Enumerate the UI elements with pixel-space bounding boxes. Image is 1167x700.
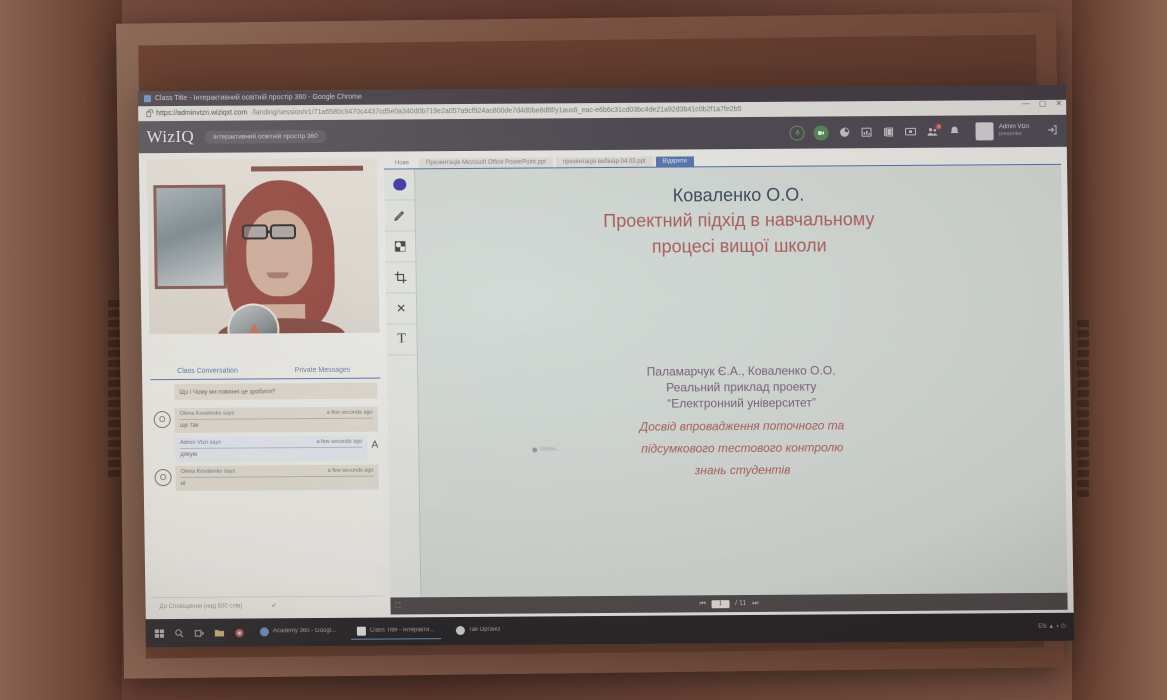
presenter-video[interactable]: [147, 158, 380, 335]
notification-icon[interactable]: [948, 125, 961, 138]
avatar: [976, 122, 994, 140]
projected-screen: Class Title - Інтерактивний освітній про…: [138, 85, 1074, 647]
page-total: / 11: [735, 600, 746, 607]
whiteboard-stage: ✕ T Коваленко О.О. Проектний підхід в на…: [384, 165, 1067, 598]
chat-text: Що і Чому ми повинні це зробити?: [179, 386, 372, 396]
chat-text: дякую: [180, 448, 362, 458]
tab-presentation-1[interactable]: Презентація Microsoft Office PowerPoint.…: [419, 157, 553, 168]
lock-icon: [146, 111, 151, 117]
slide-subtitle-block: Паламарчук Є.А., Коваленко О.О. Реальний…: [418, 361, 1066, 481]
maximize-button[interactable]: ▢: [1039, 99, 1047, 108]
left-panel: Class Conversation Private Messages Що і…: [139, 152, 389, 620]
timer-icon[interactable]: [838, 126, 851, 139]
chat-tabs: Class Conversation Private Messages: [150, 362, 380, 381]
microphone-icon[interactable]: [790, 125, 805, 140]
slide-watermark: Обери...: [532, 446, 559, 452]
list-item: O Olena Kovalenko says a few seconds ago…: [154, 465, 378, 492]
chat-input-row[interactable]: До Сповіщення (над 500 слів) ✔: [153, 596, 383, 616]
url-host: https://adminvtzn.wiziqxt.com: [156, 110, 247, 118]
poll-icon[interactable]: [860, 126, 873, 139]
chrome-favicon-icon: [144, 95, 151, 102]
send-check-icon[interactable]: ✔: [271, 602, 377, 610]
slide-italic-line3: знань студентів: [419, 454, 1065, 481]
slide-title-block: Коваленко О.О. Проектний підхід в навчал…: [415, 183, 1062, 260]
library-icon[interactable]: [882, 125, 895, 138]
presenter-avatar: [227, 303, 280, 334]
chat-author: Admin Vtzn says: [180, 440, 221, 446]
windows-start-icon[interactable]: [154, 628, 165, 639]
last-page-button[interactable]: ⏭: [752, 599, 758, 607]
delete-tool[interactable]: ✕: [386, 293, 416, 324]
avatar: [154, 440, 171, 457]
stage-panel: Нове Презентація Microsoft Office PowerP…: [382, 147, 1074, 618]
chat-bubble: Olena Kovalenko says a few seconds ago н…: [175, 465, 378, 491]
chat-text: ні: [181, 477, 374, 487]
class-title-pill: Інтерактивний освітній простір 360: [204, 129, 327, 143]
tab-open[interactable]: Відкрити: [656, 156, 694, 166]
taskbar-window-class[interactable]: Class Title - Інтеракти...: [351, 624, 441, 640]
tab-private-messages[interactable]: Private Messages: [265, 362, 380, 379]
close-button[interactable]: ✕: [1055, 99, 1062, 108]
left-slats: [108, 300, 120, 477]
chat-bubble: Olena Kovalenko says a few seconds ago щ…: [175, 407, 378, 433]
user-profile[interactable]: Admin Vtzn presenter: [976, 122, 1030, 140]
list-item: O Olena Kovalenko says a few seconds ago…: [154, 407, 378, 434]
list-item: Admin Vtzn says a few seconds ago дякую …: [154, 436, 378, 463]
shape-fill-tool[interactable]: [385, 231, 415, 262]
url-path: /landing/session/v1/71a6580c9470c4437cd5…: [252, 106, 741, 116]
minimize-button[interactable]: —: [1022, 99, 1030, 108]
chat-input[interactable]: До Сповіщення (над 500 слів): [159, 603, 265, 610]
pointer-color-tool[interactable]: [384, 169, 414, 200]
slide-canvas[interactable]: Коваленко О.О. Проектний підхід в навчал…: [415, 165, 1067, 597]
chat-panel: Class Conversation Private Messages Що і…: [150, 362, 384, 616]
system-tray[interactable]: EN ▲ ◗ ⏻: [1038, 623, 1066, 630]
chat-time: a few seconds ago: [328, 468, 374, 474]
screenshare-icon[interactable]: [904, 125, 917, 138]
wiziq-app: WizIQ Інтерактивний освітній простір 360: [138, 115, 1073, 619]
wiziq-logo[interactable]: WizIQ: [146, 127, 194, 147]
pencil-tool[interactable]: [385, 200, 415, 231]
slide-navigation: ⛶ ⏮ 1 / 11 ⏭: [390, 593, 1067, 615]
first-page-button[interactable]: ⏮: [699, 600, 705, 608]
tab-class-conversation[interactable]: Class Conversation: [150, 362, 265, 379]
chat-time: a few seconds ago: [327, 410, 373, 416]
taskbar-window-academy[interactable]: Academy 360 - Googl...: [254, 624, 342, 640]
chat-time: a few seconds ago: [317, 439, 363, 445]
avatar: O: [154, 411, 171, 428]
wiziq-body: Class Conversation Private Messages Що і…: [139, 147, 1074, 619]
crop-tool[interactable]: [385, 262, 415, 293]
chrome-icon[interactable]: [234, 627, 245, 638]
attendees-icon[interactable]: 4: [926, 125, 939, 138]
chat-flag-icon[interactable]: A: [371, 440, 378, 451]
avatar: [153, 387, 170, 404]
fullscreen-icon[interactable]: ⛶: [395, 602, 400, 610]
file-explorer-icon[interactable]: [214, 627, 225, 638]
chat-author: Olena Kovalenko says: [180, 469, 235, 475]
right-slats: [1077, 320, 1089, 497]
avatar: O: [154, 469, 171, 486]
window-controls[interactable]: — ▢ ✕: [1022, 99, 1062, 108]
user-role: presenter: [999, 131, 1030, 138]
chat-author: Olena Kovalenko says: [180, 411, 235, 417]
slide-title-line2: процесі вищої школи: [416, 229, 1062, 259]
attendee-count-badge: 4: [936, 123, 942, 129]
tab-new[interactable]: Нове: [388, 158, 416, 168]
wall-picture: [153, 185, 227, 289]
wall-left: [0, 0, 122, 700]
search-icon[interactable]: [174, 627, 185, 638]
chat-text: ще так: [180, 419, 373, 429]
classroom-background: Class Title - Інтерактивний освітній про…: [0, 0, 1167, 700]
text-tool[interactable]: T: [386, 324, 416, 355]
tab-presentation-2[interactable]: презентація вебінар 04.03.ppt: [556, 157, 653, 168]
header-toolbar: 4 Admin Vtzn presenter: [790, 122, 1059, 142]
task-view-icon[interactable]: [194, 627, 205, 638]
list-item: Що і Чому ми повинні це зробити?: [153, 383, 377, 405]
chat-bubble: Що і Чому ми повинні це зробити?: [174, 383, 377, 400]
page-number-input[interactable]: 1: [712, 600, 729, 608]
taskbar-window-other[interactable]: Так Організ: [449, 623, 506, 638]
camera-icon[interactable]: [814, 125, 829, 140]
chat-message-list[interactable]: Що і Чому ми повинні це зробити? O Olena…: [150, 379, 383, 598]
window-title: Class Title - Інтерактивний освітній про…: [155, 94, 362, 102]
exit-icon[interactable]: [1046, 123, 1058, 138]
chat-bubble: Admin Vtzn says a few seconds ago дякую: [175, 436, 368, 462]
